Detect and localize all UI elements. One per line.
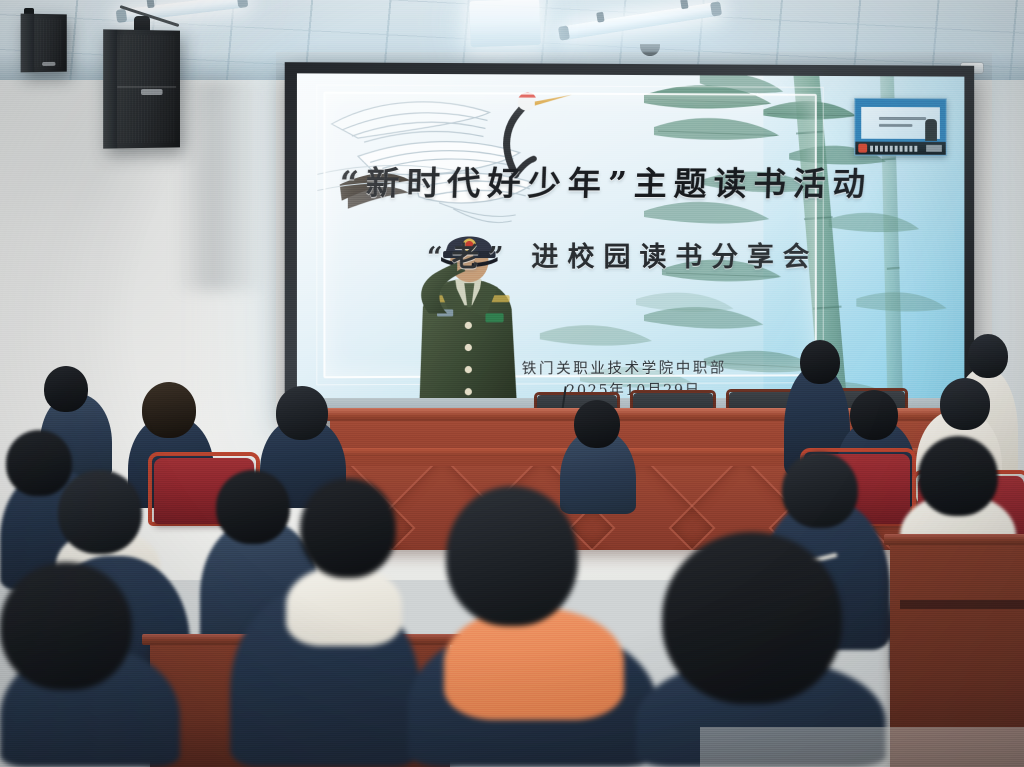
audience-hood-orange-1: [444, 608, 624, 720]
student-desk-right-top: [884, 534, 1024, 545]
audience-head-far-5: [850, 390, 898, 440]
standing-person-2-head: [968, 334, 1008, 378]
floor: [700, 727, 1024, 767]
audience-head-front-2: [446, 486, 578, 626]
audience-hood-white-3: [286, 566, 402, 646]
projection-screen-frame: “新时代好少年”主题读书活动 “老” 进校园读书分享会 铁门关职业技术学院中职部…: [285, 62, 974, 421]
pip-toolbar: [855, 142, 945, 155]
pip-figure: [925, 119, 937, 141]
student-desk-right-shelf: [900, 600, 1024, 609]
pip-status-chip: [926, 145, 942, 152]
pip-toolbar-text: [870, 146, 919, 152]
wall-speaker-large: [103, 29, 180, 148]
wall-speaker-small: [21, 14, 67, 73]
audience-head-front-4: [0, 562, 132, 690]
audience-head-mid-5: [918, 436, 998, 516]
pip-record-button[interactable]: [858, 144, 867, 153]
audience-head-far-6: [940, 378, 990, 430]
audience-head-front-1: [300, 478, 396, 578]
audience-head-far-2: [142, 382, 196, 438]
wall-column-shadow: [175, 80, 270, 290]
ceiling-light-panel-icon: [469, 0, 541, 47]
projection-screen: “新时代好少年”主题读书活动 “老” 进校园读书分享会 铁门关职业技术学院中职部…: [297, 73, 964, 410]
slide-main-title: “新时代好少年”主题读书活动: [339, 156, 940, 205]
slide-subtitle: “老” 进校园读书分享会: [427, 235, 964, 274]
audience-head-mid-1: [6, 430, 72, 496]
audience-head-mid-4: [782, 452, 858, 528]
audience-head-far-1: [44, 366, 88, 412]
audience-head-far-4: [574, 400, 620, 448]
audience-head-mid-2: [58, 470, 142, 554]
standing-person-head: [800, 340, 840, 384]
audience-head-front-3: [662, 532, 842, 704]
slide-organization: 铁门关职业技术学院中职部: [522, 357, 727, 379]
picture-in-picture-preview[interactable]: [854, 98, 946, 156]
audience-head-far-3: [276, 386, 328, 440]
audience-head-mid-3: [216, 470, 290, 544]
photo-scene: “新时代好少年”主题读书活动 “老” 进校园读书分享会 铁门关职业技术学院中职部…: [0, 0, 1024, 767]
